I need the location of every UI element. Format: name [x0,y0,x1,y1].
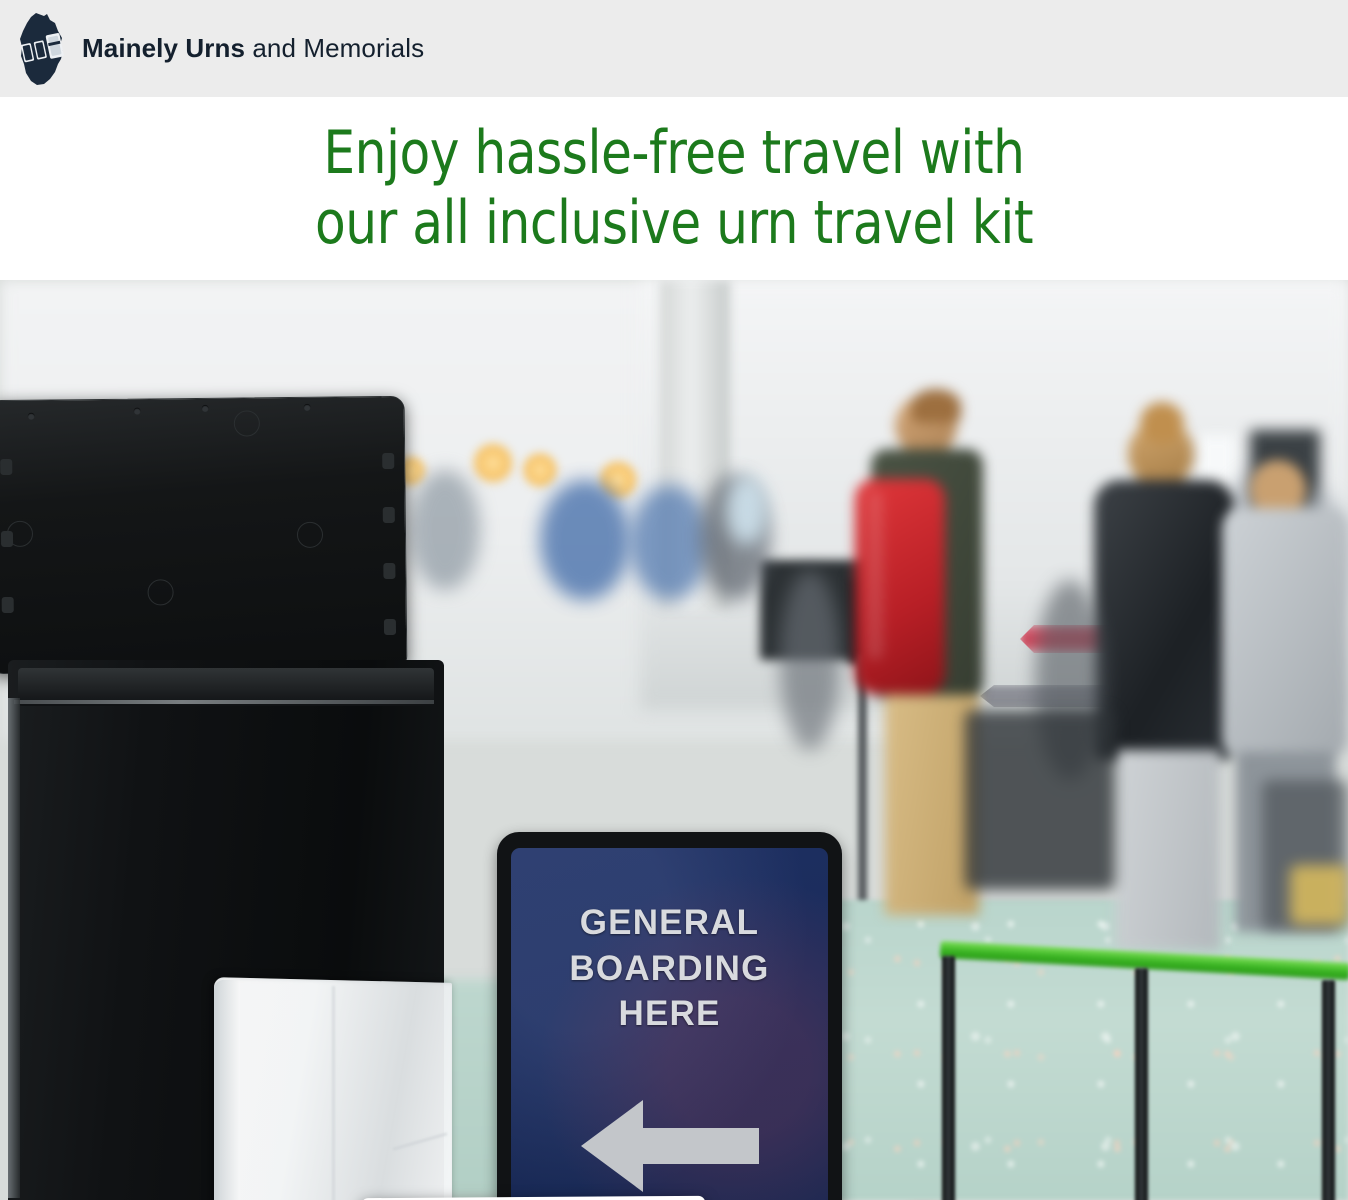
lid-rib-7 [384,619,396,635]
plastic-bag-fold [214,980,240,1200]
travel-case-lid [0,396,407,674]
lid-rib-3 [2,597,14,613]
lid-rib-6 [383,563,395,579]
lid-moulding-ring-4 [297,522,323,548]
yellow-bag [1290,865,1348,925]
headline-line-1: Enjoy hassle-free travel with [323,119,1024,189]
brand-title: Mainely Urns and Memorials [82,33,424,64]
headline-block: Enjoy hassle-free travel with our all in… [0,97,1348,280]
product-lifestyle-photo: GENERAL BOARDING HERE [0,280,1348,1200]
lid-moulding-ring-3 [147,579,173,605]
gate-counter [965,710,1115,890]
lid-screw-3 [202,405,209,412]
lid-screw-2 [134,408,141,415]
lid-screw-1 [28,413,35,420]
arrow-left-icon [581,1098,759,1199]
sign-text-line-3: HERE [618,991,720,1037]
brand-header-bar: Mainely Urns and Memorials [0,0,1348,97]
lid-rib-5 [383,507,395,523]
brand-name-bold: Mainely Urns [82,33,245,63]
ceiling-lamp-2 [520,450,560,490]
general-boarding-sign: GENERAL BOARDING HERE [497,832,842,1200]
ceiling-lamp-1 [470,440,516,486]
background-crowd-blob-5 [726,475,768,545]
sign-text-line-1: GENERAL [580,900,760,946]
passenger-far-1 [780,570,840,750]
plastic-bag-crease-1 [332,986,335,1200]
lid-rib-4 [382,453,394,469]
brand-name-rest: and Memorials [245,33,424,63]
stanchion-post-1 [942,956,955,1200]
lid-screw-4 [304,404,311,411]
lid-rib-1 [0,459,12,475]
lid-moulding-ring-1 [234,410,260,436]
stanchion-post-2 [1135,968,1148,1200]
sign-face: GENERAL BOARDING HERE [511,848,828,1200]
headline-line-2: our all inclusive urn travel kit [315,189,1033,259]
background-crowd-blob-1 [410,470,480,590]
background-crowd-blob-3 [630,485,710,600]
stanchion-post-3 [1322,980,1335,1200]
lid-rib-2 [1,531,13,547]
travel-case-front-edge [14,700,434,704]
travel-case-left-highlight [8,698,20,1198]
sign-text-line-2: BOARDING [569,946,769,992]
background-crowd-blob-2 [540,480,630,600]
maine-state-mu-monogram-icon [14,11,70,87]
